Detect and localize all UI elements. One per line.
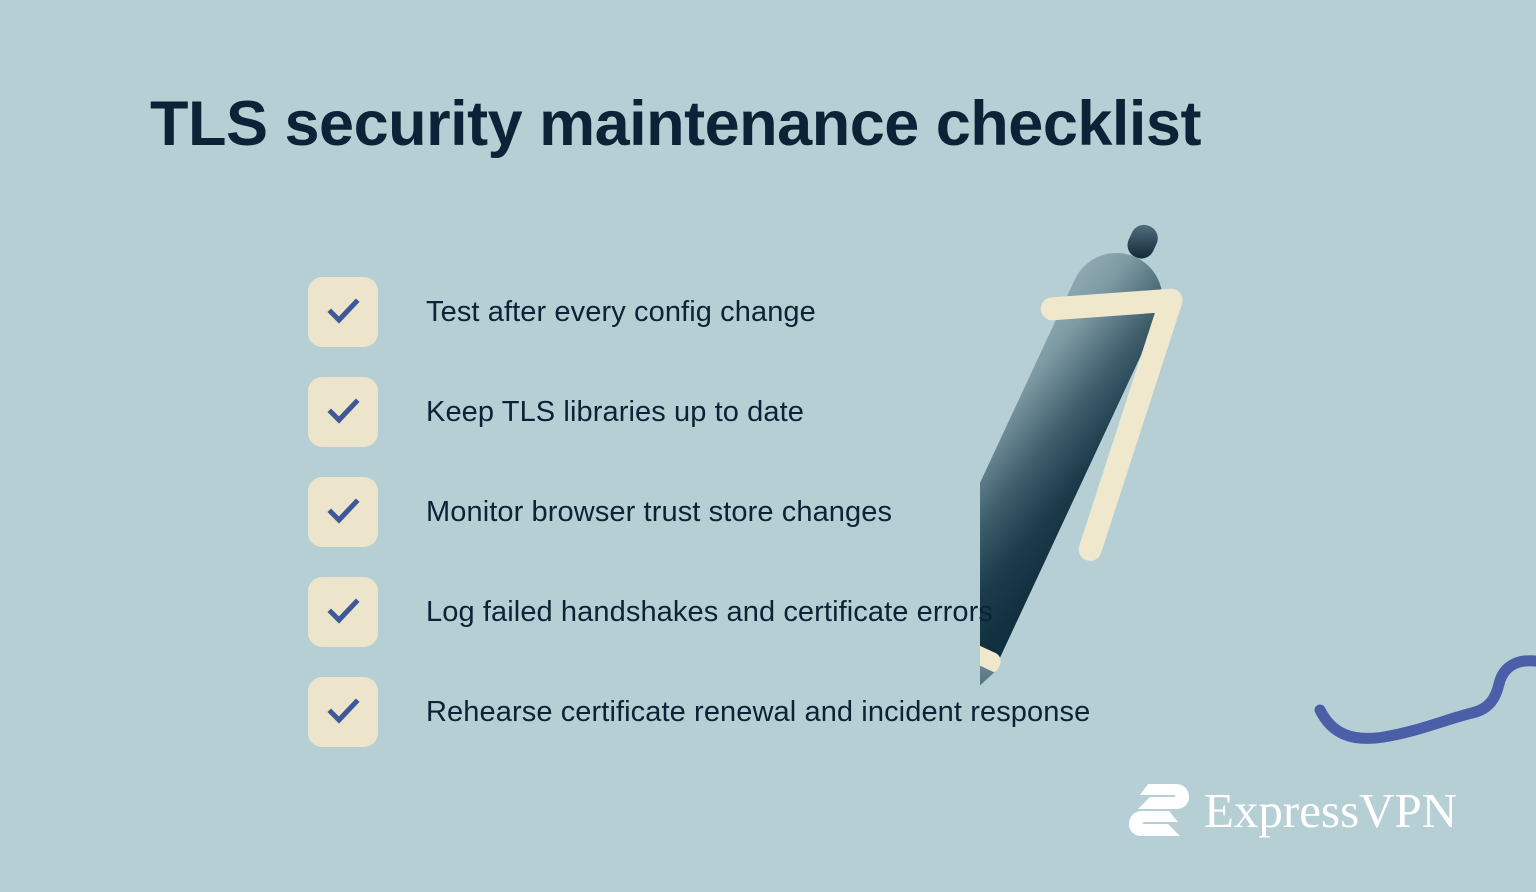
checklist-item-label: Rehearse certificate renewal and inciden… [426,696,1090,729]
page-title: TLS security maintenance checklist [150,88,1201,160]
checklist-item-label: Keep TLS libraries up to date [426,396,804,429]
checklist-item[interactable]: Log failed handshakes and certificate er… [308,577,1258,647]
checkbox[interactable] [308,577,378,647]
pen-plunger [1123,221,1162,263]
checkbox[interactable] [308,477,378,547]
checkbox[interactable] [308,277,378,347]
expressvpn-e-icon [1128,780,1190,840]
brand-logo: ExpressVPN [1128,780,1457,840]
check-icon [323,492,363,532]
check-icon [323,392,363,432]
checklist-item-label: Log failed handshakes and certificate er… [426,596,993,629]
checkbox[interactable] [308,377,378,447]
brand-wordmark: ExpressVPN [1204,786,1457,835]
checkbox[interactable] [308,677,378,747]
checklist-item-label: Monitor browser trust store changes [426,496,892,529]
checklist: Test after every config change Keep TLS … [308,277,1258,777]
checklist-item[interactable]: Test after every config change [308,277,1258,347]
check-icon [323,292,363,332]
infographic-canvas: TLS security maintenance checklist [0,0,1536,892]
checklist-item[interactable]: Keep TLS libraries up to date [308,377,1258,447]
checklist-item-label: Test after every config change [426,296,816,329]
ink-line [1320,661,1536,739]
check-icon [323,692,363,732]
check-icon [323,592,363,632]
checklist-item[interactable]: Monitor browser trust store changes [308,477,1258,547]
checklist-item[interactable]: Rehearse certificate renewal and inciden… [308,677,1258,747]
